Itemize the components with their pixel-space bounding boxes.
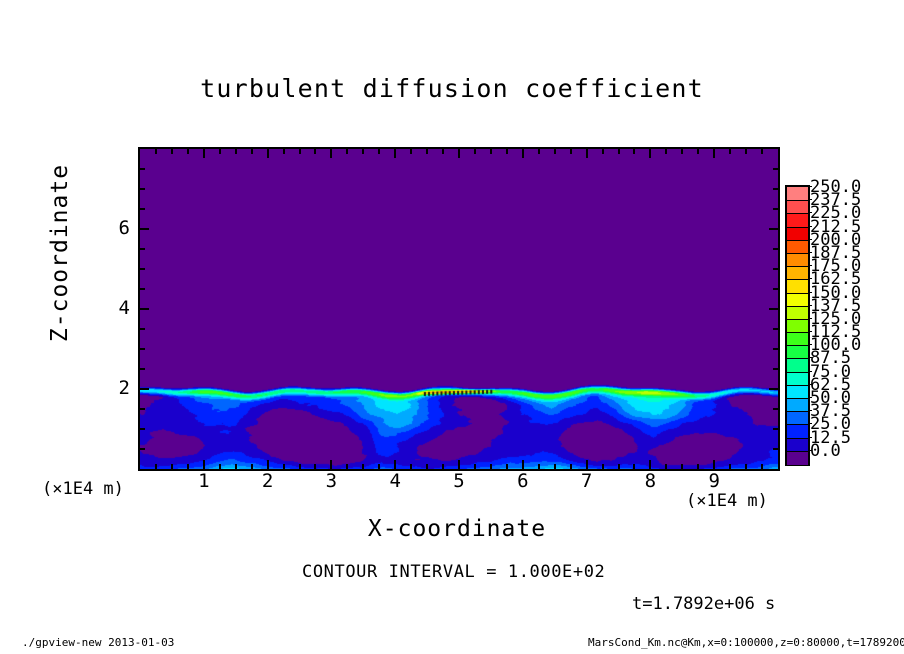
- colorbar-tick: [808, 199, 812, 200]
- x-axis-tick: [362, 464, 364, 469]
- x-axis-tick: [618, 149, 620, 154]
- colorbar-tick: [808, 252, 812, 253]
- x-axis-tick: [506, 149, 508, 154]
- colorbar-separator: [787, 451, 808, 452]
- colorbar-tick: [808, 437, 812, 438]
- x-axis-tick: [203, 149, 205, 158]
- x-axis-tick: [426, 464, 428, 469]
- colorbar-tick: [808, 357, 812, 358]
- x-axis-tick: [490, 149, 492, 154]
- z-axis-tick: [773, 168, 778, 170]
- x-axis-tick: [314, 464, 316, 469]
- colorbar-swatch: [787, 451, 808, 465]
- x-axis-tick: [346, 464, 348, 469]
- x-axis-tick: [713, 149, 715, 158]
- x-axis-tick: [219, 149, 221, 154]
- z-axis-tick: [140, 368, 145, 370]
- x-axis-tick: [155, 464, 157, 469]
- colorbar-tick: [808, 318, 812, 319]
- x-axis-tick: [538, 149, 540, 154]
- colorbar-separator: [787, 411, 808, 412]
- x-axis-tick: [522, 149, 524, 158]
- colorbar-swatch: [787, 213, 808, 227]
- colorbar-tick: [808, 410, 812, 411]
- x-axis-tick: [745, 464, 747, 469]
- x-axis-tick: [299, 149, 301, 154]
- z-axis-tick: [769, 388, 778, 390]
- z-axis-tick: [773, 428, 778, 430]
- time-stamp-text: t=1.7892e+06 s: [632, 594, 775, 614]
- x-axis-tick: [187, 464, 189, 469]
- x-axis-tick: [394, 149, 396, 158]
- x-tick-label: 2: [255, 470, 281, 492]
- z-axis-tick: [140, 268, 145, 270]
- colorbar-tick: [808, 344, 812, 345]
- x-axis-tick: [761, 464, 763, 469]
- z-axis-tick: [140, 288, 145, 290]
- z-axis-tick: [773, 268, 778, 270]
- z-axis-tick: [140, 248, 145, 250]
- colorbar-swatch: [787, 358, 808, 372]
- z-tick-label: 4: [104, 297, 130, 319]
- colorbar-separator: [787, 424, 808, 425]
- x-axis-tick: [697, 464, 699, 469]
- colorbar-swatch: [787, 240, 808, 254]
- colorbar-tick: [808, 384, 812, 385]
- x-tick-label: 8: [637, 470, 663, 492]
- x-axis-tick: [681, 149, 683, 154]
- z-axis-tick: [773, 188, 778, 190]
- colorbar-label: 0.0: [810, 443, 841, 460]
- colorbar-swatch: [787, 411, 808, 425]
- colorbar-tick: [808, 423, 812, 424]
- x-axis-tick: [283, 149, 285, 154]
- x-axis-tick: [633, 149, 635, 154]
- colorbar-tick: [808, 331, 812, 332]
- x-axis-unit-left: (×1E4 m): [42, 479, 124, 499]
- colorbar-swatch: [787, 227, 808, 241]
- x-axis-tick: [235, 464, 237, 469]
- x-axis-tick: [633, 464, 635, 469]
- x-tick-label: 9: [701, 470, 727, 492]
- x-axis-tick: [299, 464, 301, 469]
- z-axis-tick: [773, 328, 778, 330]
- x-axis-tick: [442, 464, 444, 469]
- x-axis-tick: [745, 149, 747, 154]
- colorbar-separator: [787, 385, 808, 386]
- x-axis-tick: [330, 149, 332, 158]
- colorbar-swatch: [787, 293, 808, 307]
- footer-command: ./gpview-new 2013-01-03: [22, 636, 174, 649]
- colorbar-swatch: [787, 306, 808, 320]
- x-tick-label: 1: [191, 470, 217, 492]
- colorbar-separator: [787, 253, 808, 254]
- x-axis-tick: [474, 464, 476, 469]
- x-axis-tick: [729, 149, 731, 154]
- x-axis-tick: [426, 149, 428, 154]
- x-axis-tick: [203, 460, 205, 469]
- colorbar-tick: [808, 305, 812, 306]
- z-axis-tick: [773, 288, 778, 290]
- x-axis-tick: [506, 464, 508, 469]
- colorbar-separator: [787, 306, 808, 307]
- z-axis-tick: [140, 388, 149, 390]
- z-axis-tick: [140, 308, 149, 310]
- colorbar-swatch: [787, 398, 808, 412]
- colorbar-tick: [808, 226, 812, 227]
- z-axis-tick: [773, 348, 778, 350]
- x-axis-tick: [649, 460, 651, 469]
- colorbar[interactable]: [785, 185, 810, 466]
- x-axis-tick: [251, 464, 253, 469]
- z-axis-tick: [140, 348, 145, 350]
- contour-interval-text: CONTOUR INTERVAL = 1.000E+02: [302, 562, 605, 582]
- x-tick-label: 5: [446, 470, 472, 492]
- colorbar-tick: [808, 186, 812, 187]
- y-axis-title: Z-coordinate: [47, 153, 73, 353]
- x-axis-tick: [458, 460, 460, 469]
- x-axis-tick: [378, 464, 380, 469]
- colorbar-separator: [787, 293, 808, 294]
- colorbar-swatch: [787, 319, 808, 333]
- z-tick-label: 6: [104, 217, 130, 239]
- colorbar-swatch: [787, 385, 808, 399]
- x-axis-tick: [538, 464, 540, 469]
- x-axis-tick: [251, 149, 253, 154]
- z-tick-label: 2: [104, 377, 130, 399]
- x-axis-tick: [378, 149, 380, 154]
- x-axis-tick: [649, 149, 651, 158]
- z-axis-tick: [140, 428, 145, 430]
- x-axis-tick: [330, 460, 332, 469]
- x-axis-tick: [586, 149, 588, 158]
- x-axis-tick: [665, 464, 667, 469]
- z-axis-tick: [773, 408, 778, 410]
- x-axis-tick: [554, 149, 556, 154]
- colorbar-swatch: [787, 253, 808, 267]
- footer-dataset-info: MarsCond_Km.nc@Km,x=0:100000,z=0:80000,t…: [588, 636, 904, 649]
- x-axis-tick: [314, 149, 316, 154]
- x-axis-tick: [171, 149, 173, 154]
- z-axis-tick: [140, 408, 145, 410]
- x-axis-title: X-coordinate: [138, 516, 776, 542]
- x-axis-tick: [586, 460, 588, 469]
- colorbar-swatch: [787, 279, 808, 293]
- x-axis-tick: [187, 149, 189, 154]
- z-axis-tick: [769, 228, 778, 230]
- x-axis-tick: [602, 464, 604, 469]
- colorbar-separator: [787, 279, 808, 280]
- colorbar-separator: [787, 332, 808, 333]
- x-axis-tick: [442, 149, 444, 154]
- x-axis-tick: [681, 464, 683, 469]
- plot-area[interactable]: [138, 147, 780, 471]
- z-axis-tick: [140, 188, 145, 190]
- x-axis-tick: [235, 149, 237, 154]
- colorbar-swatch: [787, 187, 808, 201]
- colorbar-separator: [787, 398, 808, 399]
- colorbar-separator: [787, 345, 808, 346]
- colorbar-swatch: [787, 438, 808, 452]
- x-tick-label: 6: [510, 470, 536, 492]
- x-axis-tick: [219, 464, 221, 469]
- x-axis-tick: [602, 149, 604, 154]
- x-axis-tick: [729, 464, 731, 469]
- x-axis-tick: [394, 460, 396, 469]
- x-axis-tick: [458, 149, 460, 158]
- colorbar-separator: [787, 266, 808, 267]
- colorbar-separator: [787, 200, 808, 201]
- x-axis-tick: [410, 464, 412, 469]
- colorbar-separator: [787, 227, 808, 228]
- z-axis-tick: [140, 448, 145, 450]
- x-axis-tick: [362, 149, 364, 154]
- x-tick-label: 4: [382, 470, 408, 492]
- heatmap-field: [140, 149, 778, 469]
- colorbar-swatch: [787, 372, 808, 386]
- x-axis-tick: [522, 460, 524, 469]
- colorbar-separator: [787, 240, 808, 241]
- x-axis-tick: [283, 464, 285, 469]
- x-axis-tick: [713, 460, 715, 469]
- colorbar-tick: [808, 239, 812, 240]
- x-axis-tick: [155, 149, 157, 154]
- colorbar-separator: [787, 358, 808, 359]
- x-axis-tick: [665, 149, 667, 154]
- colorbar-tick: [808, 278, 812, 279]
- z-axis-tick: [773, 208, 778, 210]
- colorbar-swatch: [787, 200, 808, 214]
- x-axis-tick: [697, 149, 699, 154]
- x-axis-tick: [618, 464, 620, 469]
- colorbar-tick: [808, 292, 812, 293]
- x-axis-tick: [410, 149, 412, 154]
- z-axis-tick: [773, 368, 778, 370]
- x-axis-tick: [267, 460, 269, 469]
- x-axis-tick: [570, 464, 572, 469]
- z-axis-tick: [140, 328, 145, 330]
- x-tick-label: 3: [318, 470, 344, 492]
- colorbar-separator: [787, 438, 808, 439]
- colorbar-swatch: [787, 266, 808, 280]
- colorbar-tick: [808, 450, 812, 451]
- colorbar-separator: [787, 213, 808, 214]
- z-axis-tick: [140, 228, 149, 230]
- x-tick-label: 7: [574, 470, 600, 492]
- x-axis-tick: [346, 149, 348, 154]
- colorbar-tick: [808, 397, 812, 398]
- x-axis-tick: [490, 464, 492, 469]
- colorbar-separator: [787, 372, 808, 373]
- colorbar-tick: [808, 371, 812, 372]
- x-axis-tick: [267, 149, 269, 158]
- z-axis-tick: [140, 168, 145, 170]
- x-axis-unit-right: (×1E4 m): [686, 491, 768, 511]
- colorbar-tick: [808, 212, 812, 213]
- page-title: turbulent diffusion coefficient: [0, 74, 904, 103]
- x-axis-tick: [554, 464, 556, 469]
- z-axis-tick: [773, 248, 778, 250]
- colorbar-swatch: [787, 424, 808, 438]
- colorbar-tick: [808, 265, 812, 266]
- x-axis-tick: [570, 149, 572, 154]
- x-axis-tick: [171, 464, 173, 469]
- colorbar-swatch: [787, 332, 808, 346]
- z-axis-tick: [140, 208, 145, 210]
- colorbar-swatch: [787, 345, 808, 359]
- x-axis-tick: [474, 149, 476, 154]
- z-axis-tick: [773, 448, 778, 450]
- x-axis-tick: [761, 149, 763, 154]
- z-axis-tick: [769, 308, 778, 310]
- colorbar-separator: [787, 319, 808, 320]
